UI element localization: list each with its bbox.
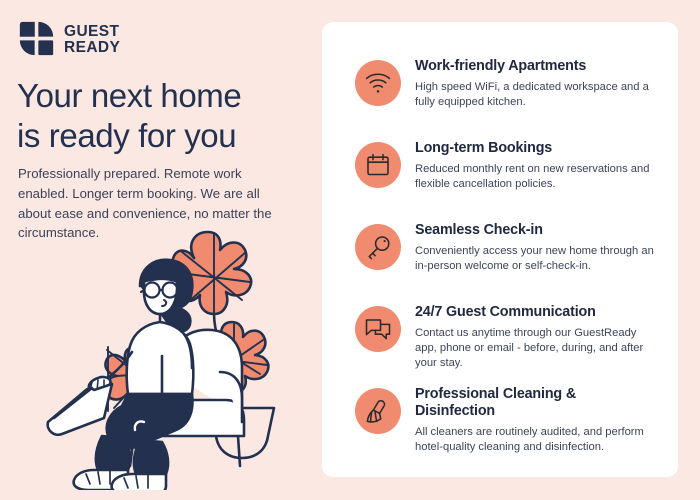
feature-title: Professional Cleaning & Disinfection: [415, 386, 655, 420]
feature-description: All cleaners are routinely audited, and …: [415, 425, 655, 455]
calendar-icon: [355, 142, 401, 188]
feature-description: Reduced monthly rent on new reservations…: [415, 162, 655, 192]
promo-page: GUEST READY Your next home is ready for …: [0, 0, 700, 500]
key-icon: [355, 224, 401, 270]
feature-description: High speed WiFi, a dedicated workspace a…: [415, 80, 655, 110]
page-title: Your next home is ready for you: [17, 76, 307, 156]
feature-text: 24/7 Guest Communication Contact us anyt…: [415, 304, 655, 371]
brand-name-line1: GUEST: [64, 23, 120, 40]
feature-item[interactable]: 24/7 Guest Communication Contact us anyt…: [355, 304, 655, 371]
feature-text: Seamless Check-in Conveniently access yo…: [415, 222, 655, 274]
feature-title: Long-term Bookings: [415, 140, 655, 157]
feature-text: Work-friendly Apartments High speed WiFi…: [415, 58, 655, 110]
feature-title: Work-friendly Apartments: [415, 58, 655, 75]
hero-column: GUEST READY Your next home is ready for …: [0, 0, 318, 500]
brand-wordmark: GUEST READY: [64, 21, 146, 56]
feature-title: 24/7 Guest Communication: [415, 304, 655, 321]
feature-text: Long-term Bookings Reduced monthly rent …: [415, 140, 655, 192]
feature-item[interactable]: Seamless Check-in Conveniently access yo…: [355, 222, 655, 274]
chat-bubbles-icon: [355, 306, 401, 352]
wifi-icon: [355, 60, 401, 106]
broom-icon: [355, 388, 401, 434]
hero-illustration: [42, 222, 302, 490]
feature-description: Conveniently access your new home throug…: [415, 244, 655, 274]
feature-item[interactable]: Professional Cleaning & Disinfection All…: [355, 386, 655, 456]
feature-text: Professional Cleaning & Disinfection All…: [415, 386, 655, 456]
feature-item[interactable]: Work-friendly Apartments High speed WiFi…: [355, 58, 655, 110]
brand-name-line2: READY: [64, 39, 121, 56]
feature-title: Seamless Check-in: [415, 222, 655, 239]
feature-description: Contact us anytime through our GuestRead…: [415, 326, 655, 371]
brand-logo[interactable]: GUEST READY: [18, 20, 146, 57]
guestready-quadrant-logo-icon: [18, 20, 55, 57]
features-panel: Work-friendly Apartments High speed WiFi…: [322, 22, 678, 477]
feature-item[interactable]: Long-term Bookings Reduced monthly rent …: [355, 140, 655, 192]
